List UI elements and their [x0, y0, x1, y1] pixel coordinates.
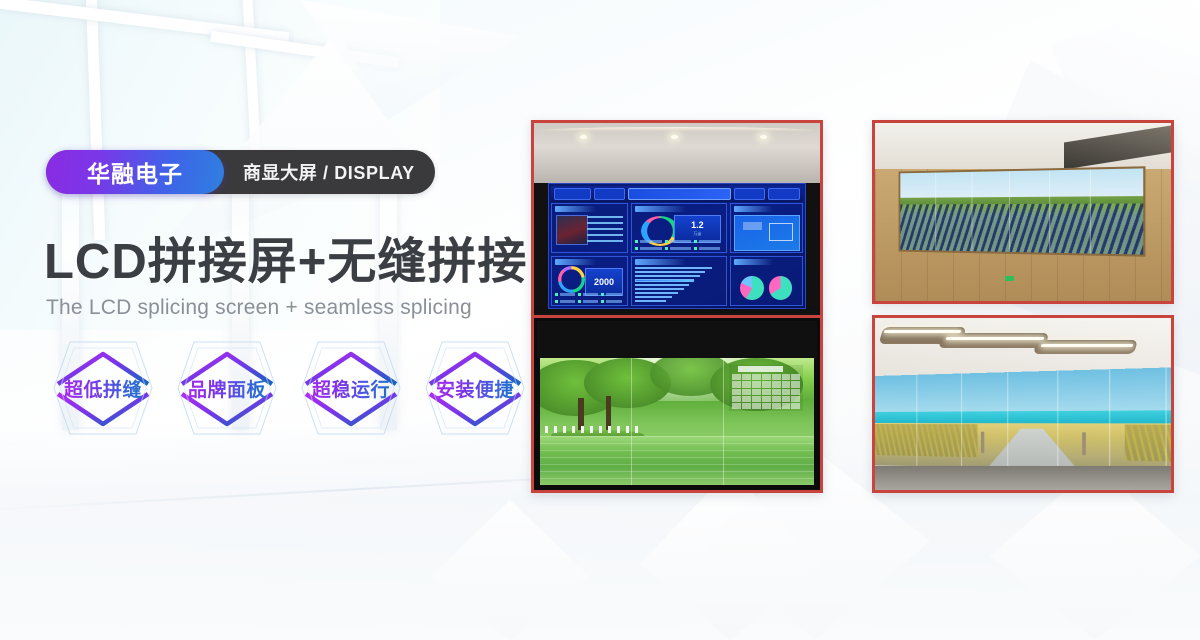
ceiling-light [760, 135, 767, 139]
screen-seam [1048, 171, 1049, 254]
feature-label: 超稳运行 [312, 375, 390, 402]
window-frame-horizontal [0, 0, 290, 44]
screen-seam [1057, 371, 1058, 471]
photo-content [534, 318, 820, 490]
exit-sign [1005, 276, 1014, 281]
dashboard-topbar [551, 186, 802, 202]
screen-seam [631, 358, 632, 485]
screen-seam [723, 358, 724, 485]
panel-title [555, 206, 596, 211]
ceiling-light-strip [883, 330, 961, 333]
metric-value: 1.2 [691, 221, 704, 230]
screen-seam [935, 173, 936, 251]
feature-label: 品牌面板 [188, 375, 266, 402]
screen-seam [1089, 170, 1090, 255]
dashboard-tab [594, 188, 625, 200]
feature-label: 安装便捷 [436, 375, 514, 402]
photo-content: 1.2 万亩 [534, 123, 820, 315]
calendar-grid [732, 374, 800, 409]
window-frame-vertical [86, 0, 106, 240]
brand-name: 华融电子 [46, 150, 224, 194]
feature-item-3: 超稳运行 [296, 336, 406, 440]
ceiling-slab [938, 333, 1049, 348]
window-frame-horizontal [210, 31, 400, 68]
screen-seam [1109, 370, 1110, 473]
fence-post [1083, 433, 1087, 455]
ceiling-cove [540, 127, 815, 131]
dashboard-panel-grid: 1.2 万亩 [551, 203, 802, 306]
feature-list: 超低拼缝 品牌面板 超稳运行 [48, 336, 530, 440]
ceiling [534, 123, 820, 183]
feature-item-2: 品牌面板 [172, 336, 282, 440]
pie-chart [740, 276, 764, 300]
floor [875, 466, 1171, 490]
pie-chart [769, 276, 793, 300]
brand-badge: 华融电子 商显大屏 / DISPLAY [46, 150, 435, 194]
dashboard-panel [631, 256, 727, 306]
ceiling-light [671, 135, 678, 139]
feature-item-1: 超低拼缝 [48, 336, 158, 440]
panel-title [734, 259, 773, 264]
donut-chart [558, 266, 585, 293]
page-subtitle: The LCD splicing screen + seamless splic… [46, 296, 472, 320]
product-photo-solar-wall[interactable] [872, 120, 1174, 304]
video-wall-screen: 1.2 万亩 [548, 183, 805, 310]
screen-seam [1009, 171, 1010, 252]
background-diamond [430, 500, 590, 640]
dashboard-tab-active [628, 188, 731, 200]
badge-category-label: 商显大屏 / DISPLAY [224, 159, 415, 185]
promo-banner: 华融电子 商显大屏 / DISPLAY LCD拼接屏+无缝拼接 The LCD … [0, 0, 1200, 640]
water-reflection [540, 436, 815, 484]
panel-title [734, 206, 773, 211]
product-photo-boardwalk-wall[interactable] [872, 315, 1174, 493]
screen-seam [961, 374, 962, 468]
panel-title [635, 206, 687, 211]
video-wall-screen [875, 366, 1174, 476]
photo-content [875, 123, 1171, 301]
panel-title [555, 259, 596, 264]
background-polygon [300, 0, 520, 120]
badge-shell: 华融电子 商显大屏 / DISPLAY [46, 150, 435, 194]
ceiling-slab [1033, 340, 1138, 354]
chart-legend [555, 291, 623, 303]
feature-label: 超低拼缝 [64, 375, 142, 402]
bar-chart [635, 267, 722, 302]
ceiling-light-strip [946, 337, 1045, 340]
window-frame-vertical [242, 0, 262, 175]
feature-item-4: 安装便捷 [420, 336, 530, 440]
ceiling-light [580, 135, 587, 139]
fence-railing [545, 426, 638, 432]
beach-grass [1125, 425, 1174, 463]
panel-title [635, 259, 687, 264]
flow-diagram [734, 215, 800, 251]
dashboard-panel: 2000 [551, 256, 627, 306]
screen-seam [1165, 368, 1166, 474]
dashboard-panel [730, 203, 803, 253]
dashboard-tab [768, 188, 799, 200]
dashboard-panel [551, 203, 627, 253]
product-photo-willow-pond[interactable] [531, 315, 823, 493]
dashboard-tab [734, 188, 765, 200]
video-wall-screen [898, 167, 1144, 258]
video-wall-screen [540, 358, 815, 485]
screen-seam [972, 172, 973, 252]
screen-seam [1008, 373, 1009, 470]
chart-legend [635, 238, 722, 250]
product-photo-dashboard[interactable]: 1.2 万亩 [531, 120, 823, 318]
dashboard-tab [554, 188, 590, 200]
page-title: LCD拼接屏+无缝拼接 [44, 222, 527, 293]
pie-chart-group [735, 275, 797, 301]
sky [900, 169, 1142, 198]
metric-unit: 万亩 [693, 231, 701, 237]
calendar-title [738, 366, 782, 371]
metric-value: 2000 [594, 278, 614, 287]
upper-dark-panel [537, 321, 817, 357]
background-diamond [640, 470, 820, 640]
fence-post [981, 433, 984, 454]
solar-panel-rows [900, 203, 1142, 255]
dashboard-panel [730, 256, 803, 306]
dashboard-panel: 1.2 万亩 [631, 203, 727, 253]
screen-seam [917, 375, 918, 467]
photo-content [875, 318, 1171, 490]
panel-text-lines [587, 216, 623, 243]
ceiling-light-strip [1040, 344, 1133, 347]
panel-image [556, 215, 588, 245]
calendar-overlay [729, 365, 803, 411]
